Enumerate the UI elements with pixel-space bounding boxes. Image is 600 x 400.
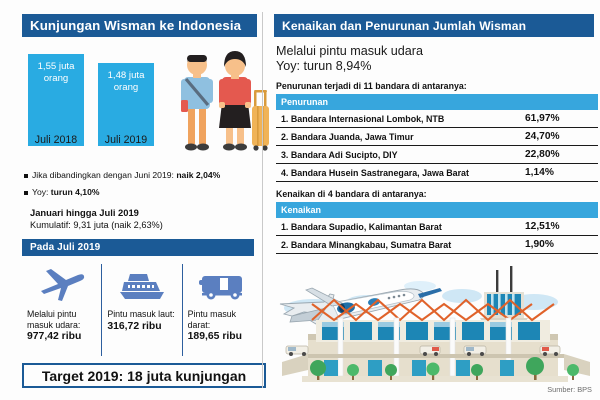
left-panel: Kunjungan Wisman ke Indonesia 1,55 juta … <box>0 0 262 400</box>
bar-column-2019: 1,48 juta orang Juli 2019 <box>98 63 154 146</box>
ship-icon <box>107 264 176 306</box>
entry-mode-sea: Pintu masuk laut: 316,72 ribu <box>101 264 181 356</box>
entry-mode-air-label: Melalui pintu masuk udara: <box>27 309 96 330</box>
bar-2019-value-line2: orang <box>114 82 139 93</box>
bar-2019-category: Juli 2019 <box>98 134 154 146</box>
visitor-bar-chart: 1,55 juta orang Juli 2018 1,48 juta oran… <box>22 46 252 164</box>
increase-row-2-name: 2. Bandara Minangkabau, Sumatra Barat <box>276 236 520 254</box>
panel-divider <box>262 12 263 388</box>
increase-row-1-name: 1. Bandara Supadio, Kalimantan Barat <box>276 218 520 236</box>
bullet-yoy-text: Yoy: <box>32 187 51 197</box>
decrease-table-header-row: Penurunan <box>276 94 598 110</box>
table-row: 4. Bandara Husein Sastranegara, Jawa Bar… <box>276 164 598 182</box>
bus-icon <box>188 264 257 306</box>
table-row: 3. Bandara Adi Sucipto, DIY 22,80% <box>276 146 598 164</box>
decrease-row-4-name: 4. Bandara Husein Sastranegara, Jawa Bar… <box>276 164 520 182</box>
entry-mode-land-value: 189,65 ribu <box>188 331 242 342</box>
bullet-yoy: Yoy: turun 4,10% <box>24 187 252 198</box>
period-bar: Pada Juli 2019 <box>22 239 254 256</box>
bullet-vs-juni-value: naik 2,04% <box>176 170 220 180</box>
decrease-row-2-pct: 24,70% <box>520 128 598 146</box>
bullet-yoy-value: turun 4,10% <box>51 187 100 197</box>
table-row: 2. Bandara Minangkabau, Sumatra Barat 1,… <box>276 236 598 254</box>
bullet-square-icon <box>24 191 28 195</box>
source-label: Sumber: BPS <box>547 385 592 394</box>
entry-mode-sea-value: 316,72 ribu <box>107 321 161 332</box>
bullet-square-icon <box>24 174 28 178</box>
airplane-icon <box>27 264 96 306</box>
entry-mode-air-value: 977,42 ribu <box>27 331 81 342</box>
airplane-illustration <box>280 288 442 324</box>
decrease-row-1-pct: 61,97% <box>520 110 598 128</box>
entry-mode-land: Pintu masuk darat: 189,65 ribu <box>182 264 262 356</box>
table-row: 1. Bandara Supadio, Kalimantan Barat 12,… <box>276 218 598 236</box>
cumulative-title: Januari hingga Juli 2019 <box>30 207 252 218</box>
increase-row-2-pct: 1,90% <box>520 236 598 254</box>
bar-2018-value-line2: orang <box>44 73 69 84</box>
table-row: 1. Bandara Internasional Lombok, NTB 61,… <box>276 110 598 128</box>
increase-row-1-pct: 12,51% <box>520 218 598 236</box>
entry-mode-air: Melalui pintu masuk udara: 977,42 ribu <box>22 264 101 356</box>
decrease-row-1-name: 1. Bandara Internasional Lombok, NTB <box>276 110 520 128</box>
decrease-table-header: Penurunan <box>276 94 598 110</box>
lead-line-1: Melalui pintu masuk udara <box>276 44 594 59</box>
decrease-table: Penurunan 1. Bandara Internasional Lombo… <box>276 94 598 182</box>
decrease-row-3-pct: 22,80% <box>520 146 598 164</box>
airport-illustration <box>272 258 598 388</box>
bullet-vs-juni-text: Jika dibandingkan dengan Juni 2019: <box>32 170 176 180</box>
cumulative-block: Januari hingga Juli 2019 Kumulatif: 9,31… <box>30 207 252 230</box>
bar-2018-category: Juli 2018 <box>28 134 84 146</box>
cumulative-value: Kumulatif: 9,31 juta (naik 2,63%) <box>30 220 252 230</box>
increase-caption: Kenaikan di 4 bandara di antaranya: <box>276 189 594 199</box>
lead-text: Melalui pintu masuk udara Yoy: turun 8,9… <box>276 44 594 74</box>
decrease-row-2-name: 2. Bandara Juanda, Jawa Timur <box>276 128 520 146</box>
target-box: Target 2019: 18 juta kunjungan <box>22 363 266 388</box>
entry-mode-sea-label: Pintu masuk laut: <box>107 309 174 320</box>
right-panel-title: Kenaikan dan Penurunan Jumlah Wisman <box>274 14 594 37</box>
bar-2018-value-line1: 1,55 juta <box>38 61 75 72</box>
increase-table-header: Kenaikan <box>276 202 598 218</box>
infographic-canvas: Kunjungan Wisman ke Indonesia 1,55 juta … <box>0 0 600 400</box>
entry-mode-land-label: Pintu masuk darat: <box>188 309 257 330</box>
bar-column-2018: 1,55 juta orang Juli 2018 <box>28 54 84 146</box>
decrease-row-4-pct: 1,14% <box>520 164 598 182</box>
bar-2019-value-line1: 1,48 juta <box>108 70 145 81</box>
left-panel-title: Kunjungan Wisman ke Indonesia <box>22 14 257 37</box>
entry-modes-group: Melalui pintu masuk udara: 977,42 ribu <box>22 264 262 356</box>
table-row: 2. Bandara Juanda, Jawa Timur 24,70% <box>276 128 598 146</box>
lead-line-2: Yoy: turun 8,94% <box>276 59 594 74</box>
bar-2018: 1,55 juta orang <box>28 54 84 146</box>
increase-table-header-row: Kenaikan <box>276 202 598 218</box>
bullet-vs-juni: Jika dibandingkan dengan Juni 2019: naik… <box>24 170 252 181</box>
increase-table: Kenaikan 1. Bandara Supadio, Kalimantan … <box>276 202 598 254</box>
decrease-caption: Penurunan terjadi di 11 bandara di antar… <box>276 81 594 91</box>
tourists-illustration <box>164 48 274 160</box>
decrease-row-3-name: 3. Bandara Adi Sucipto, DIY <box>276 146 520 164</box>
